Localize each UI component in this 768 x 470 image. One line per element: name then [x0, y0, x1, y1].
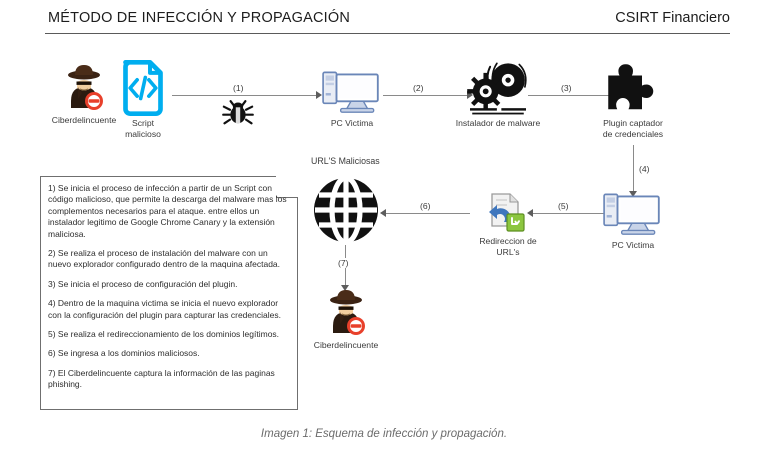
node-attacker-bottom[interactable]: Ciberdelincuente — [307, 288, 385, 351]
page-title: MÉTODO DE INFECCIÓN Y PROPAGACIÓN — [48, 10, 350, 26]
node-pc-bottom[interactable]: PC Victima — [601, 190, 665, 251]
bug-icon — [222, 96, 254, 126]
node-plugin-label: Plugin captador de credenciales — [592, 118, 674, 140]
flow-label-1: (1) — [231, 83, 246, 93]
connector-redirect-to-globe — [385, 213, 470, 214]
puzzle-piece-icon — [592, 62, 674, 116]
node-script-label: Script malicioso — [112, 118, 174, 140]
hacker-icon — [307, 288, 385, 338]
code-file-icon — [112, 60, 174, 116]
node-globe-label: URL'S Maliciosas — [311, 156, 380, 166]
desktop-pc-icon — [601, 190, 665, 238]
node-attacker-bottom-label: Ciberdelincuente — [307, 340, 385, 351]
node-installer[interactable]: Instalador de malware — [455, 60, 541, 129]
node-redirect-label: Redireccion de URL's — [467, 236, 549, 258]
node-bug — [222, 96, 254, 126]
node-pc-top-label: PC Victima — [320, 118, 384, 129]
step-item: 3) Se inicia el proceso de configuración… — [48, 279, 291, 290]
node-pc-top[interactable]: PC Victima — [320, 68, 384, 129]
step-item: 4) Dentro de la maquina victima se inici… — [48, 298, 291, 321]
url-redirect-icon — [485, 192, 531, 234]
step-item: 5) Se realiza el redireccionamiento de l… — [48, 329, 291, 340]
node-plugin[interactable]: Plugin captador de credenciales — [592, 62, 674, 140]
step-item: 7) El Ciberdelincuente captura la inform… — [48, 368, 291, 391]
organization-label: CSIRT Financiero — [615, 10, 730, 26]
node-script[interactable]: Script malicioso — [112, 60, 174, 140]
step-item: 2) Se realiza el proceso de instalación … — [48, 248, 291, 271]
flow-label-3: (3) — [559, 83, 574, 93]
flow-label-5: (5) — [556, 201, 571, 211]
steps-list: 1) Se inicia el proceso de infección a p… — [48, 183, 291, 405]
flow-label-4: (4) — [637, 164, 652, 174]
node-globe[interactable] — [311, 175, 381, 245]
diagram-canvas: MÉTODO DE INFECCIÓN Y PROPAGACIÓN CSIRT … — [0, 0, 768, 470]
malware-installer-icon — [455, 60, 541, 116]
node-pc-bottom-label: PC Victima — [601, 240, 665, 251]
desktop-pc-icon — [320, 68, 384, 116]
flow-label-7: (7) — [336, 258, 351, 268]
figure-caption: Imagen 1: Esquema de infección y propaga… — [0, 428, 768, 440]
flow-label-6: (6) — [418, 201, 433, 211]
flow-label-2: (2) — [411, 83, 426, 93]
connector-plugin-to-pc — [633, 145, 634, 193]
globe-icon — [311, 175, 381, 245]
steps-note-box: 1) Se inicia el proceso de infección a p… — [40, 176, 298, 410]
node-redirect[interactable]: Redireccion de URL's — [467, 192, 549, 258]
step-item: 1) Se inicia el proceso de infección a p… — [48, 183, 291, 240]
node-installer-label: Instalador de malware — [455, 118, 541, 129]
step-item: 6) Se ingresa a los dominios maliciosos. — [48, 348, 291, 359]
header-divider — [45, 33, 730, 34]
